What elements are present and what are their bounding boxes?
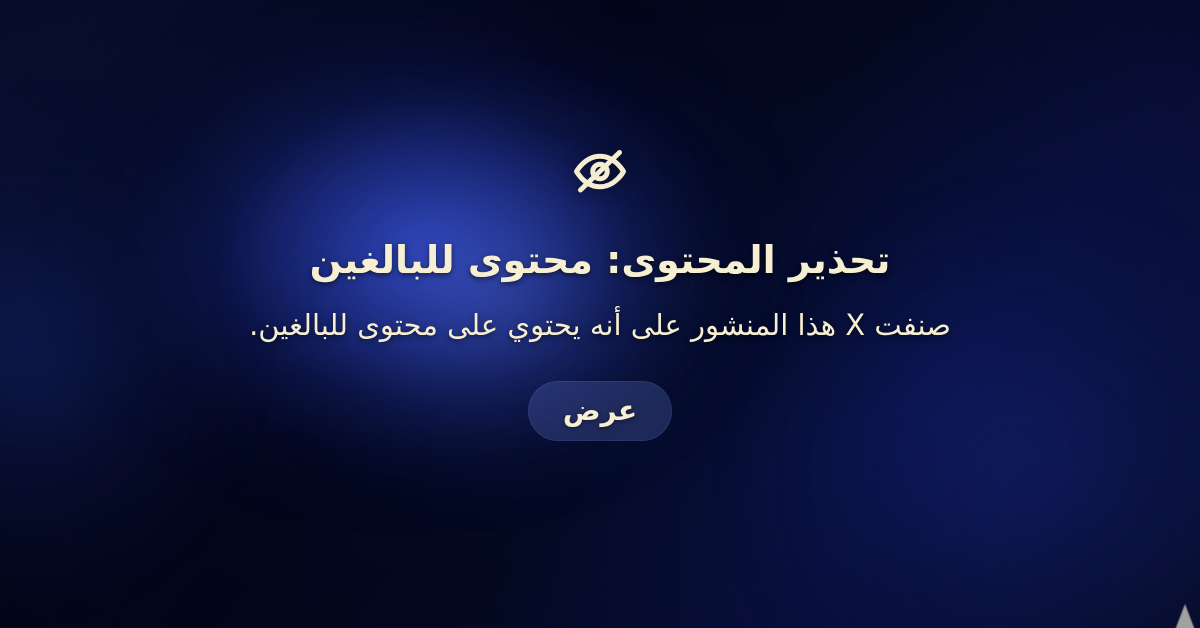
warning-content: تحذير المحتوى: محتوى للبالغين صنفت X هذا… xyxy=(0,0,1200,628)
content-warning-screen: تحذير المحتوى: محتوى للبالغين صنفت X هذا… xyxy=(0,0,1200,628)
warning-description: صنفت X هذا المنشور على أنه يحتوي على محت… xyxy=(249,307,951,345)
view-button[interactable]: عرض xyxy=(528,381,672,441)
page-title: تحذير المحتوى: محتوى للبالغين xyxy=(310,237,891,285)
eye-off-icon xyxy=(570,141,630,201)
